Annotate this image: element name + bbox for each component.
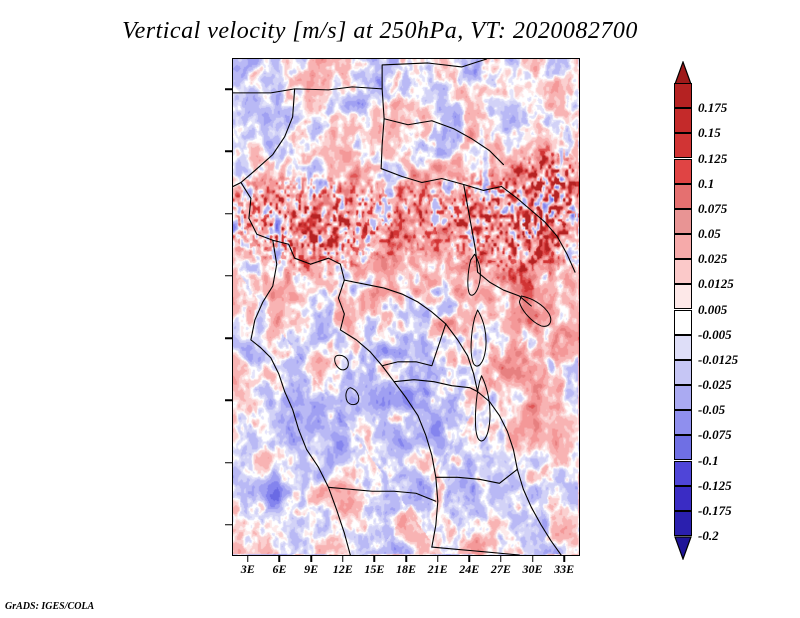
longitude-tick-label: 30E [523,562,543,577]
country-borders-overlay [233,59,579,555]
longitude-tick-label: 6E [272,562,286,577]
colorbar-tick-label: -0.005 [698,327,732,343]
map-plot-area[interactable] [232,58,580,556]
colorbar-segment [674,159,692,184]
colorbar-segment [674,410,692,435]
colorbar-tick-label: -0.0125 [698,352,738,368]
longitude-tick-mark [437,556,439,562]
colorbar-tick-label: -0.075 [698,427,732,443]
colorbar-tick-label: -0.125 [698,478,732,494]
colorbar-tick-label: 0.1 [698,176,714,192]
longitude-tick-mark [310,556,312,562]
colorbar-min-arrow [671,536,695,560]
colorbar-max-arrow [671,61,695,85]
longitude-tick-label: 12E [333,562,353,577]
colorbar[interactable] [671,61,695,558]
longitude-tick-label: 21E [428,562,448,577]
longitude-tick-mark [342,556,344,562]
longitude-tick-mark [563,556,565,562]
longitude-tick-label: 3E [241,562,255,577]
longitude-tick-label: 33E [554,562,574,577]
longitude-tick-label: 18E [396,562,416,577]
colorbar-segment [674,83,692,108]
latitude-tick-mark [225,400,232,402]
longitude-tick-mark [532,556,534,562]
longitude-tick-label: 15E [364,562,384,577]
longitude-tick-mark [279,556,281,562]
colorbar-tick-label: 0.075 [698,201,727,217]
colorbar-segment [674,461,692,486]
longitude-tick-mark [374,556,376,562]
colorbar-tick-label: -0.1 [698,453,719,469]
latitude-tick-mark [225,88,232,90]
colorbar-tick-label: 0.05 [698,226,721,242]
colorbar-segment [674,435,692,460]
colorbar-segment [674,259,692,284]
colorbar-segment [674,486,692,511]
latitude-tick-mark [225,337,232,339]
latitude-tick-mark [225,524,232,526]
latitude-tick-mark [225,462,232,464]
longitude-tick-mark [500,556,502,562]
colorbar-segment [674,284,692,309]
longitude-tick-label: 27E [491,562,511,577]
colorbar-tick-label: 0.125 [698,151,727,167]
colorbar-segment [674,511,692,536]
colorbar-segment [674,360,692,385]
longitude-tick-mark [247,556,249,562]
colorbar-segment [674,108,692,133]
longitude-tick-label: 9E [304,562,318,577]
latitude-tick-mark [225,213,232,215]
colorbar-segment [674,209,692,234]
colorbar-segment [674,310,692,335]
latitude-tick-mark [225,275,232,277]
latitude-tick-mark [225,151,232,153]
colorbar-segment [674,234,692,259]
colorbar-tick-label: -0.2 [698,528,719,544]
colorbar-tick-label: -0.025 [698,377,732,393]
longitude-tick-mark [405,556,407,562]
colorbar-tick-label: 0.0125 [698,276,734,292]
colorbar-tick-label: 0.005 [698,302,727,318]
colorbar-tick-label: -0.175 [698,503,732,519]
colorbar-tick-label: 0.025 [698,251,727,267]
colorbar-segment [674,184,692,209]
colorbar-tick-label: 0.15 [698,125,721,141]
colorbar-segment [674,335,692,360]
colorbar-segment [674,133,692,158]
colorbar-segment [674,385,692,410]
page-title: Vertical velocity [m/s] at 250hPa, VT: 2… [0,18,760,45]
colorbar-tick-label: -0.05 [698,402,725,418]
colorbar-tick-label: 0.175 [698,100,727,116]
grads-credit: GrADS: IGES/COLA [5,601,94,612]
longitude-tick-label: 24E [459,562,479,577]
longitude-tick-mark [469,556,471,562]
